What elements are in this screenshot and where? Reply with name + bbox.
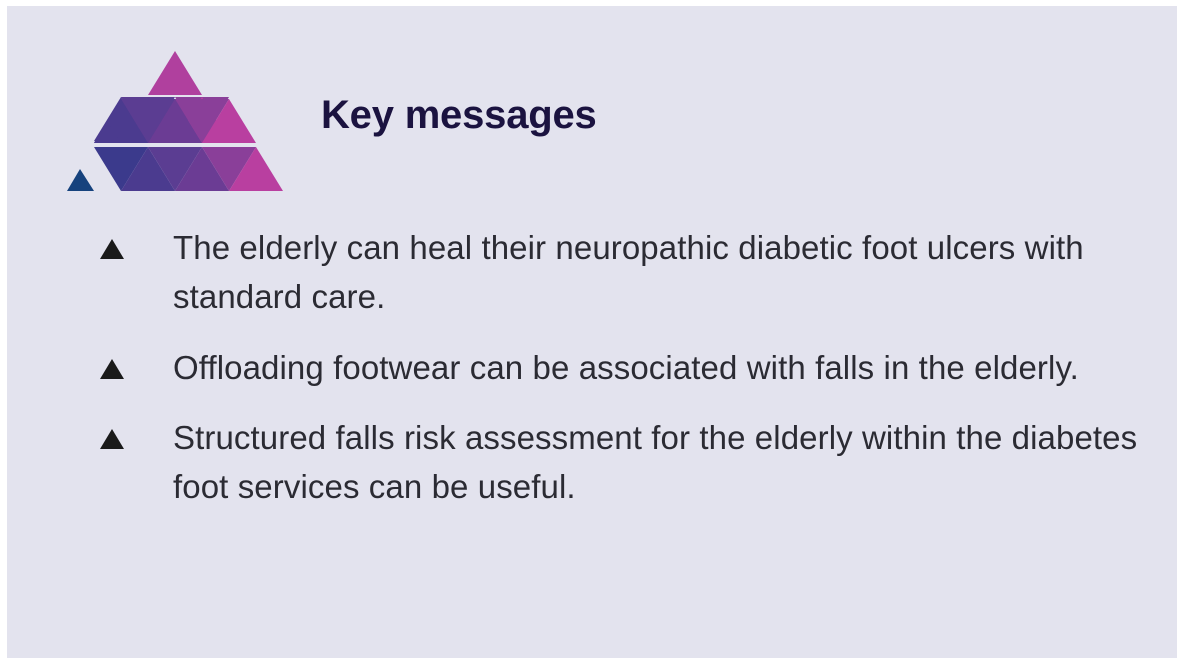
list-item-text: Offloading footwear can be associated wi… bbox=[129, 344, 1149, 393]
page-title: Key messages bbox=[321, 93, 597, 137]
key-messages-list: The elderly can heal their neuropathic d… bbox=[99, 224, 1149, 512]
key-messages-card: Key messages The elderly can heal their … bbox=[7, 6, 1177, 658]
logo-triangle-row5-up-0 bbox=[67, 169, 94, 191]
triangle-bullet-icon bbox=[99, 414, 129, 450]
triangle-bullet-icon bbox=[99, 224, 129, 260]
list-item: Structured falls risk assessment for the… bbox=[99, 414, 1149, 512]
list-item: The elderly can heal their neuropathic d… bbox=[99, 224, 1149, 322]
logo-triangle-r1-up1 bbox=[148, 51, 202, 95]
list-item-text: Structured falls risk assessment for the… bbox=[129, 414, 1149, 512]
list-item: Offloading footwear can be associated wi… bbox=[99, 344, 1149, 393]
triangle-bullet-icon bbox=[99, 344, 129, 380]
triangle-mosaic-logo bbox=[64, 49, 286, 194]
logo-row-5 bbox=[67, 147, 283, 191]
list-item-text: The elderly can heal their neuropathic d… bbox=[129, 224, 1149, 322]
logo-row-4 bbox=[94, 99, 256, 143]
